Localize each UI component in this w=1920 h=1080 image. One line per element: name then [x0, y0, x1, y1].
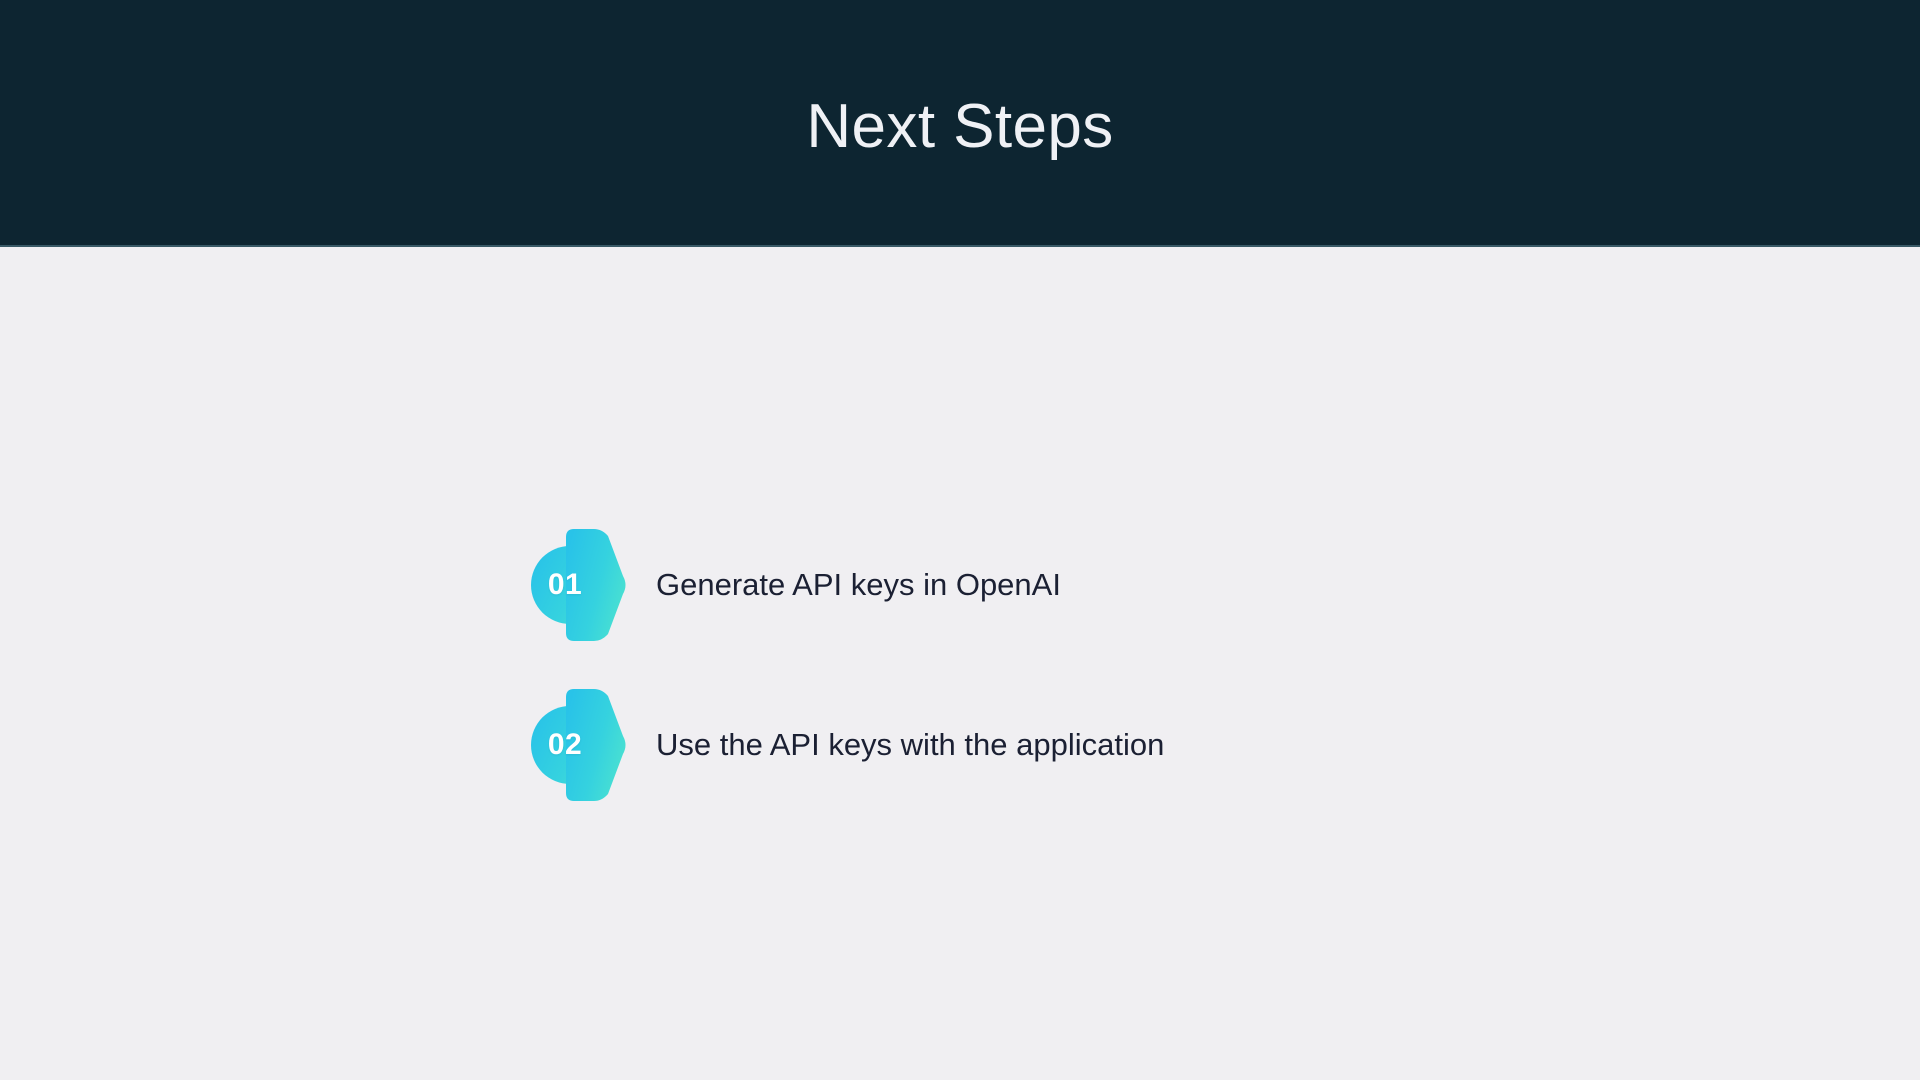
list-item[interactable]: 01 Generate API keys in OpenAI: [528, 520, 1164, 650]
step-label: Generate API keys in OpenAI: [642, 566, 1061, 603]
step-arrow-badge: 01: [528, 520, 628, 650]
step-number: 02: [528, 680, 602, 810]
list-item[interactable]: 02 Use the API keys with the application: [528, 680, 1164, 810]
page-title: Next Steps: [766, 96, 1153, 158]
slide-next-steps: Next Steps: [0, 0, 1920, 1080]
slide-header-band: Next Steps: [0, 0, 1920, 247]
step-arrow-badge: 02: [528, 680, 628, 810]
step-number: 01: [528, 520, 602, 650]
steps-list: 01 Generate API keys in OpenAI: [528, 520, 1164, 810]
step-label: Use the API keys with the application: [642, 726, 1164, 763]
